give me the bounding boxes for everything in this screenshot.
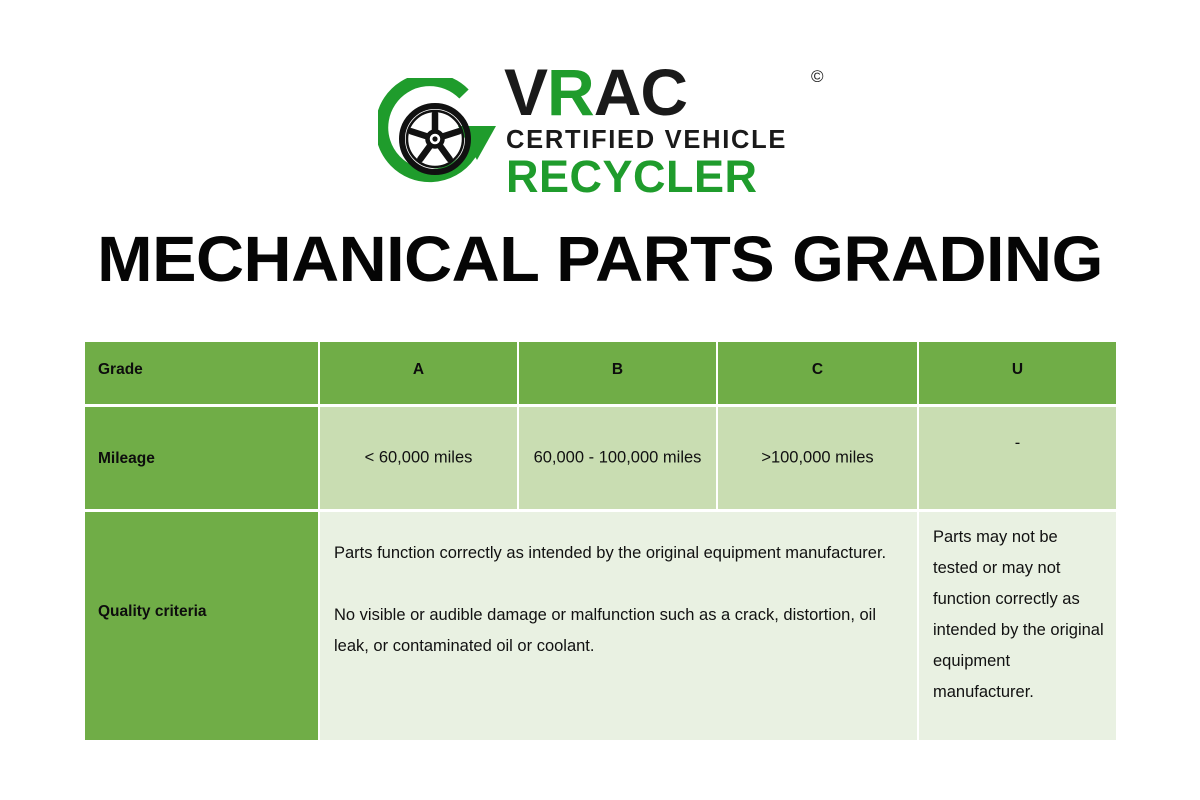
- header-label-grade: Grade: [98, 361, 143, 379]
- page-title: MECHANICAL PARTS GRADING: [0, 222, 1200, 296]
- quality-abc-body: Parts function correctly as intended by …: [334, 538, 903, 662]
- logo-letter-a: A: [594, 55, 641, 129]
- header-cell-u: U: [919, 342, 1116, 404]
- mileage-value-c: >100,000 miles: [726, 445, 909, 472]
- quality-cell-abc: Parts function correctly as intended by …: [320, 512, 917, 740]
- grading-table: Grade A B C U Mileage < 60,000 miles 60,…: [85, 342, 1116, 740]
- header-letter-a: A: [320, 361, 517, 379]
- header-cell-a: A: [320, 342, 517, 404]
- brand-logo: VRAC © CERTIFIED VEHICLE RECYCLER: [378, 58, 838, 203]
- mileage-value-b: 60,000 - 100,000 miles: [527, 445, 708, 472]
- quality-abc-paragraph-1: Parts function correctly as intended by …: [334, 538, 903, 569]
- header-letter-b: B: [519, 361, 716, 379]
- mileage-cell-u: -: [919, 407, 1116, 509]
- logo-letter-c: C: [640, 55, 687, 129]
- logo-wordmark: VRAC © CERTIFIED VEHICLE RECYCLER: [504, 58, 838, 203]
- quality-u-text: Parts may not be tested or may not funct…: [933, 522, 1104, 708]
- mileage-value-a: < 60,000 miles: [328, 445, 509, 472]
- header-letter-u: U: [919, 361, 1116, 379]
- logo-letter-v: V: [504, 55, 547, 129]
- header-cell-c: C: [718, 342, 917, 404]
- row-label-quality-criteria: Quality criteria: [85, 512, 318, 740]
- copyright-icon: ©: [811, 68, 824, 85]
- logo-vrac-text: VRAC: [504, 56, 687, 128]
- row-label-mileage-text: Mileage: [98, 450, 155, 468]
- row-label-quality-criteria-text: Quality criteria: [98, 603, 207, 621]
- mileage-cell-c: >100,000 miles: [718, 407, 917, 509]
- quality-abc-paragraph-2: No visible or audible damage or malfunct…: [334, 600, 903, 662]
- header-cell-grade: Grade: [85, 342, 318, 404]
- mileage-cell-b: 60,000 - 100,000 miles: [519, 407, 716, 509]
- logo-recycler-text: RECYCLER: [506, 152, 758, 202]
- table-row: Mileage < 60,000 miles 60,000 - 100,000 …: [85, 407, 1116, 509]
- row-label-mileage: Mileage: [85, 407, 318, 509]
- mileage-value-u: -: [919, 434, 1116, 453]
- header-letter-c: C: [718, 361, 917, 379]
- table-header-row: Grade A B C U: [85, 342, 1116, 404]
- logo-letter-r: R: [547, 55, 594, 129]
- header-cell-b: B: [519, 342, 716, 404]
- mileage-cell-a: < 60,000 miles: [320, 407, 517, 509]
- table-row: Quality criteria Parts function correctl…: [85, 512, 1116, 740]
- recycle-arrow-wheel-icon: [378, 78, 502, 196]
- quality-cell-u: Parts may not be tested or may not funct…: [919, 512, 1116, 740]
